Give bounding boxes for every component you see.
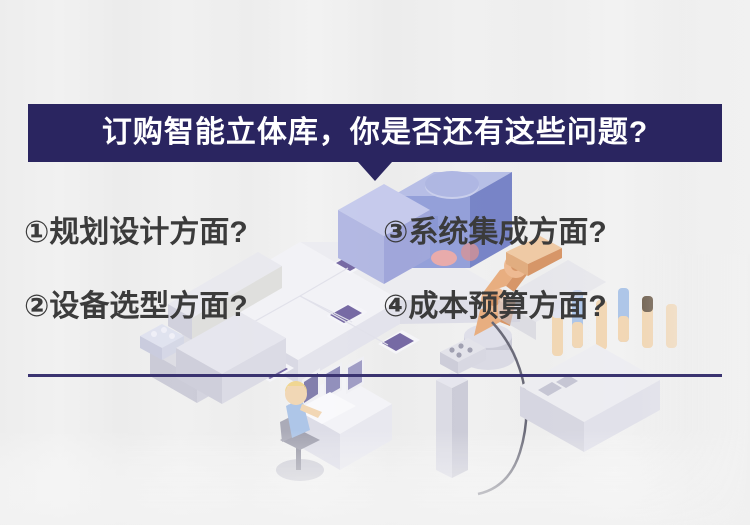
question-item-1: ①规划设计方面? xyxy=(0,196,365,270)
right-machine-block xyxy=(520,344,660,452)
question-label-2: ②设备选型方面? xyxy=(24,292,248,322)
question-label-1: ①规划设计方面? xyxy=(24,218,248,248)
banner-down-arrow-icon xyxy=(358,162,392,181)
control-pillar xyxy=(436,338,486,478)
question-item-2: ②设备选型方面? xyxy=(0,270,365,344)
page-title: 订购智能立体库，你是否还有这些问题? xyxy=(102,118,648,148)
horizontal-divider xyxy=(28,374,722,377)
poster-canvas: 订购智能立体库，你是否还有这些问题? ①规划设计方面? ③系统集成方面? ②设备… xyxy=(0,0,750,525)
question-item-3: ③系统集成方面? xyxy=(365,196,750,270)
question-label-4: ④成本预算方面? xyxy=(383,292,607,322)
header-banner: 订购智能立体库，你是否还有这些问题? xyxy=(28,104,722,162)
monitors xyxy=(302,356,364,408)
question-label-3: ③系统集成方面? xyxy=(383,218,607,248)
question-list: ①规划设计方面? ③系统集成方面? ②设备选型方面? ④成本预算方面? xyxy=(0,196,750,344)
question-item-4: ④成本预算方面? xyxy=(365,270,750,344)
